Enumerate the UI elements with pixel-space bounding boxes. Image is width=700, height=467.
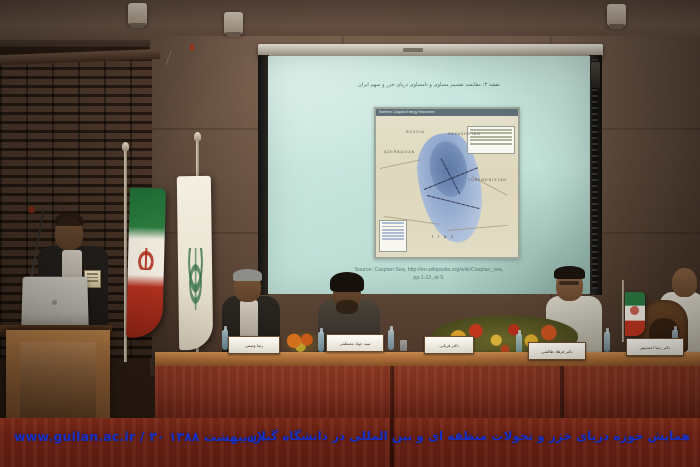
- panelist-2-hair: [330, 272, 364, 292]
- scale-swatch: [382, 232, 404, 234]
- university-emblem-icon: [184, 248, 207, 310]
- banner-event-title: همایش حوزه دریای خزر و تحولات منطقه ای و…: [247, 429, 690, 443]
- panelist-3-hair: [554, 266, 585, 279]
- panelist-4-head: [672, 268, 697, 297]
- scale-swatch: [382, 222, 404, 224]
- map-country-label: RUSSIA: [406, 130, 425, 134]
- water-bottle: [318, 332, 324, 352]
- bottom-banner: www.guilan.ac.ir / ۳۰ اردیبهشت ۱۳۸۸ همای…: [0, 418, 700, 467]
- map-country-label: TURKMENISTAN: [468, 178, 507, 182]
- speaker-hair: [55, 213, 83, 226]
- map-legend-box: [467, 126, 515, 154]
- map-header-bar: Northern Caspian Energy Resources: [376, 109, 518, 116]
- flag-pole-finial: [122, 142, 129, 151]
- ceiling-light-icon: [607, 4, 626, 26]
- map-country-label: I r a n: [432, 234, 455, 239]
- slide-map-image: Northern Caspian Energy Resources: [374, 107, 520, 259]
- banner-pole-finial: [194, 132, 201, 141]
- map-country-label: KAZAKHSTAN: [448, 132, 481, 136]
- microphone-icon: [28, 206, 35, 213]
- slide-title: نقشه ۳: مقایسه تقسیم مساوی و نامساوی دری…: [268, 82, 590, 88]
- badge-line: [87, 273, 98, 275]
- nameplate: سید جواد مصطفی: [326, 334, 384, 352]
- badge-line: [87, 280, 98, 282]
- nameplate: رضا وصفی: [228, 336, 280, 354]
- panelist-3-glasses-icon: [559, 281, 579, 285]
- panelist-2-beard: [336, 300, 358, 314]
- banner-website[interactable]: www.guilan.ac.ir: [14, 429, 135, 444]
- ceiling-light-icon: [128, 3, 147, 25]
- table-flag-emblem-icon: [630, 306, 639, 315]
- fire-sensor-icon: [190, 44, 194, 51]
- laptop-screen: [21, 277, 89, 329]
- nameplate-text: دکتر فرهاد طالشی: [541, 349, 572, 354]
- nameplate-text: سید جواد مصطفی: [340, 341, 371, 346]
- map-bathymetry-scale: [379, 220, 407, 252]
- water-bottle: [388, 330, 394, 350]
- water-bottle: [516, 334, 522, 354]
- panelist-1-hair: [233, 269, 262, 281]
- map-country-label: AZERBAIJAN: [384, 150, 415, 154]
- screen-roller-nub: [591, 62, 600, 88]
- table-panel-seam: [560, 366, 564, 418]
- badge-line: [87, 277, 98, 279]
- drinking-glass: [400, 340, 407, 351]
- slide-source-line1: Source: Caspian Sea, http://en.wikipedia…: [278, 266, 580, 274]
- table-panel-seam: [390, 366, 394, 418]
- nameplate: دکتر فرهاد طالشی: [528, 342, 586, 360]
- iran-flag-emblem-icon: [136, 248, 157, 271]
- slide-source-citation: Source: Caspian Sea, http://en.wikipedia…: [278, 266, 580, 282]
- nameplate: دکتر قربانی: [424, 336, 474, 354]
- panel-table-front: [155, 366, 700, 418]
- screen-frame-right: [589, 55, 602, 295]
- nameplate-text: رضا وصفی: [245, 343, 264, 348]
- legend-swatch: [470, 129, 512, 131]
- nameplate-text: دکتر رضا احمدیپور: [640, 345, 671, 350]
- scale-swatch: [382, 229, 404, 231]
- nameplate-text: دکتر قربانی: [439, 343, 458, 348]
- scale-swatch: [382, 238, 404, 240]
- map-road: [380, 159, 421, 169]
- banner-separator: /: [140, 429, 145, 444]
- podium-front-panel: [20, 342, 96, 422]
- scale-swatch: [382, 235, 404, 237]
- legend-swatch: [470, 143, 512, 145]
- banner-left-text: www.guilan.ac.ir / ۳۰ اردیبهشت ۱۳۸۸: [14, 429, 266, 444]
- slide-source-line2: pp.1-12, at 9.: [278, 274, 580, 282]
- flower-arrangement-small: [282, 330, 322, 354]
- water-bottle: [604, 332, 610, 352]
- scale-swatch: [382, 226, 404, 228]
- legend-swatch: [470, 139, 512, 141]
- nameplate: دکتر رضا احمدیپور: [626, 338, 684, 356]
- table-flag-pole: [622, 280, 624, 342]
- screen-brand-mark: [403, 48, 423, 52]
- conference-photo: نقشه ۳: مقایسه تقسیم مساوی و نامساوی دری…: [0, 0, 700, 467]
- projection-screen: نقشه ۳: مقایسه تقسیم مساوی و نامساوی دری…: [268, 56, 590, 294]
- map-header-title: Northern Caspian Energy Resources: [376, 109, 518, 116]
- map-landmass: AZERBAIJAN TURKMENISTAN I r a n KAZAKHST…: [376, 116, 518, 257]
- legend-swatch: [470, 136, 512, 138]
- ceiling-light-icon: [224, 12, 243, 34]
